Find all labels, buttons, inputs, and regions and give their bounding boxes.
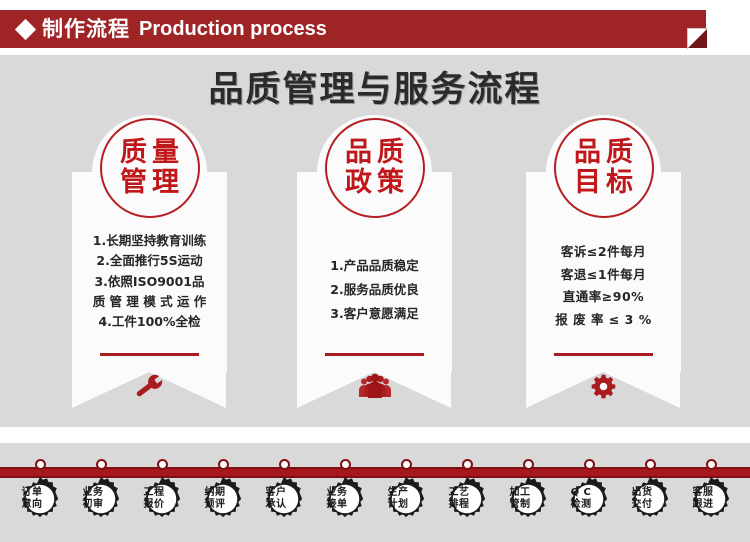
team-icon (297, 365, 452, 407)
process-node-9[interactable]: 加工 管制 (497, 459, 559, 522)
node-label-line2: 管制 (510, 499, 531, 512)
node-label-line1: 工艺 (449, 487, 470, 500)
wrench-icon (72, 365, 227, 407)
node-label: 出货 交付 (619, 476, 665, 522)
rail-dot-icon (340, 459, 351, 470)
node-label-line2: 检测 (571, 499, 592, 512)
node-label-line1: Q C (571, 487, 592, 500)
rail-dot-icon (157, 459, 168, 470)
card-divider (554, 353, 653, 356)
process-node-2[interactable]: 业务 初审 (70, 459, 132, 522)
process-node-8[interactable]: 工艺 排程 (436, 459, 498, 522)
node-label-line2: 报价 (144, 499, 165, 512)
process-node-7[interactable]: 生产 计划 (375, 459, 437, 522)
node-label: 纳期 预评 (192, 476, 238, 522)
node-label-line2: 意向 (22, 499, 43, 512)
list-item: 1.长期坚持教育训练 (78, 231, 221, 251)
process-node-12[interactable]: 客服 跟进 (680, 459, 742, 522)
card-item-list: 1.产品品质稳定 2.服务品质优良 3.客户意愿满足 (303, 254, 446, 325)
folded-corner-decoration (688, 29, 707, 48)
node-label-line2: 承认 (266, 499, 287, 512)
page-root: 制作流程 Production process 品质管理与服务流程 质量 管理 (0, 0, 750, 542)
node-label-line1: 纳期 (205, 487, 226, 500)
rail-dot-icon (35, 459, 46, 470)
node-label: 工艺 排程 (436, 476, 482, 522)
card-badge: 质量 管理 (100, 118, 200, 218)
list-item: 3.客户意愿满足 (303, 302, 446, 326)
quality-card-1: 质量 管理 1.长期坚持教育训练 2.全面推行5S运动 3.依照ISO9001品… (72, 115, 227, 415)
badge-line-1: 品质 (340, 139, 409, 167)
node-label: Q C 检测 (558, 476, 604, 522)
node-label-line2: 接单 (327, 499, 348, 512)
list-item: 2.全面推行5S运动 (78, 251, 221, 271)
gear-icon (526, 365, 681, 407)
node-label: 客服 跟进 (680, 476, 726, 522)
main-panel: 品质管理与服务流程 质量 管理 1.长期坚持教育训练 2.全面推行5S运动 3.… (0, 55, 750, 427)
section-header: 制作流程 Production process (0, 10, 750, 48)
list-item: 客退≤1件每月 (532, 264, 675, 287)
quality-card-2: 品质 政策 1.产品品质稳定 2.服务品质优良 3.客户意愿满足 (297, 115, 452, 415)
list-item: 3.依照ISO9001品 (78, 272, 221, 292)
process-node-1[interactable]: 订单 意向 (9, 459, 71, 522)
badge-line-1: 品质 (569, 139, 638, 167)
list-item: 质 管 理 模 式 运 作 (78, 292, 221, 312)
node-label-line2: 初审 (83, 499, 104, 512)
rail-dot-icon (218, 459, 229, 470)
card-badge: 品质 政策 (325, 118, 425, 218)
process-node-3[interactable]: 工程 报价 (131, 459, 193, 522)
node-label: 客户 承认 (253, 476, 299, 522)
rail-dot-icon (401, 459, 412, 470)
rail-dot-icon (706, 459, 717, 470)
node-label-line1: 出货 (632, 487, 653, 500)
diamond-icon (15, 18, 36, 39)
process-node-6[interactable]: 业务 接单 (314, 459, 376, 522)
node-label: 生产 计划 (375, 476, 421, 522)
card-item-list: 1.长期坚持教育训练 2.全面推行5S运动 3.依照ISO9001品 质 管 理… (78, 231, 221, 332)
list-item: 2.服务品质优良 (303, 278, 446, 302)
node-label-line2: 计划 (388, 499, 409, 512)
process-flow-strip: 订单 意向 业务 初审 工程 报价 (0, 443, 750, 542)
rail-dot-icon (279, 459, 290, 470)
rail-dot-icon (645, 459, 656, 470)
list-item: 1.产品品质稳定 (303, 254, 446, 278)
list-item: 4.工件100%全检 (78, 312, 221, 332)
node-label-line1: 客服 (693, 487, 714, 500)
rail-dot-icon (96, 459, 107, 470)
card-divider (325, 353, 424, 356)
node-label-line1: 加工 (510, 487, 531, 500)
process-node-10[interactable]: Q C 检测 (558, 459, 620, 522)
node-label: 加工 管制 (497, 476, 543, 522)
process-node-4[interactable]: 纳期 预评 (192, 459, 254, 522)
badge-line-2: 目标 (569, 169, 638, 197)
node-label-line2: 预评 (205, 499, 226, 512)
list-item: 客诉≤2件每月 (532, 241, 675, 264)
page-title: 品质管理与服务流程 (0, 61, 750, 112)
node-label-line2: 跟进 (693, 499, 714, 512)
node-label: 业务 接单 (314, 476, 360, 522)
node-label: 业务 初审 (70, 476, 116, 522)
process-node-11[interactable]: 出货 交付 (619, 459, 681, 522)
node-label-line2: 交付 (632, 499, 653, 512)
rail-dot-icon (462, 459, 473, 470)
rail-dot-icon (584, 459, 595, 470)
node-label: 工程 报价 (131, 476, 177, 522)
node-label-line1: 客户 (266, 487, 287, 500)
header-title-cn: 制作流程 (42, 19, 130, 40)
list-item: 报 废 率 ≤ 3 % (532, 309, 675, 332)
header-bar: 制作流程 Production process (0, 10, 706, 48)
badge-line-2: 政策 (340, 169, 409, 197)
node-label: 订单 意向 (9, 476, 55, 522)
quality-card-3: 品质 目标 客诉≤2件每月 客退≤1件每月 直通率≥90% 报 废 率 ≤ 3 … (526, 115, 681, 415)
node-label-line1: 业务 (83, 487, 104, 500)
list-item: 直通率≥90% (532, 286, 675, 309)
card-item-list: 客诉≤2件每月 客退≤1件每月 直通率≥90% 报 废 率 ≤ 3 % (532, 241, 675, 331)
card-badge: 品质 目标 (554, 118, 654, 218)
node-label-line1: 业务 (327, 487, 348, 500)
process-node-5[interactable]: 客户 承认 (253, 459, 315, 522)
badge-line-2: 管理 (115, 169, 184, 197)
node-label-line2: 排程 (449, 499, 470, 512)
card-divider (100, 353, 199, 356)
badge-line-1: 质量 (115, 139, 184, 167)
header-title-en: Production process (139, 19, 327, 39)
node-label-line1: 订单 (22, 487, 43, 500)
node-label-line1: 生产 (388, 487, 409, 500)
rail-dot-icon (523, 459, 534, 470)
node-label-line1: 工程 (144, 487, 165, 500)
